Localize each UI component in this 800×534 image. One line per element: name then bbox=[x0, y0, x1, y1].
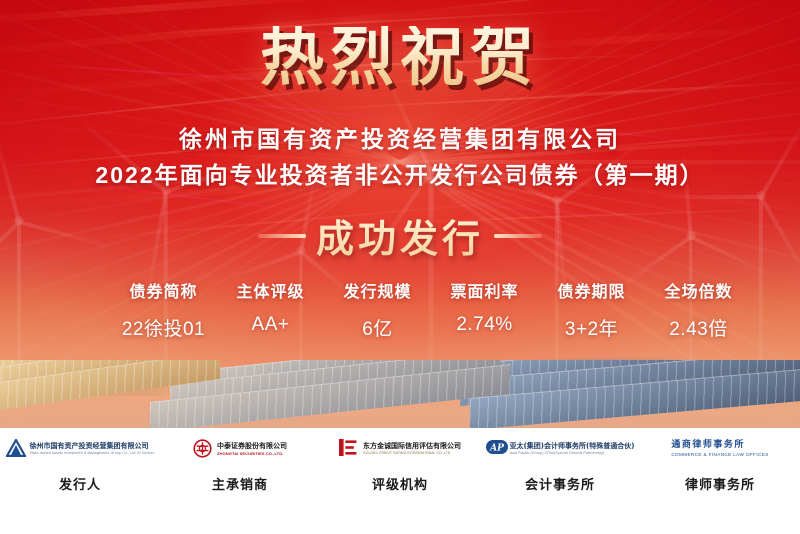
celebration-poster: 热烈祝贺 徐州市国有资产投资经营集团有限公司 2022年面向专业投资者非公开发行… bbox=[0, 0, 800, 534]
divider-line-left bbox=[258, 234, 306, 238]
table-value-cell: 2.43倍 bbox=[645, 314, 752, 341]
partner-name-cn: 亚太(集团)会计师事务所(特殊普通合伙) bbox=[510, 442, 635, 451]
partner-name-cn: 中泰证券股份有限公司 bbox=[217, 442, 287, 451]
partner-cell-发行人: 徐州市国有资产投资经营集团有限公司State-owned Assets Inve… bbox=[0, 428, 160, 493]
partner-role-label: 主承销商 bbox=[212, 474, 268, 493]
issued-banner: 成功发行 bbox=[0, 208, 800, 263]
partner-name-cn: 通商律师事务所 bbox=[671, 440, 768, 451]
table-value-cell: 6亿 bbox=[324, 314, 431, 341]
table-header-cell: 票面利率 bbox=[431, 278, 538, 302]
partner-cell-会计事务所: AP亚太(集团)会计师事务所(特殊普通合伙)Asia Pacific (Grou… bbox=[480, 428, 640, 493]
partner-name-cn: 徐州市国有资产投资经营集团有限公司 bbox=[30, 442, 155, 451]
partner-cell-评级机构: 东方金诚国际信用评估有限公司GOLDEN CREDIT RATING INTER… bbox=[320, 428, 480, 493]
partner-logo: 徐州市国有资产投资经营集团有限公司State-owned Assets Inve… bbox=[6, 438, 155, 460]
partner-name-en: COMMERCE & FINANCE LAW OFFICES bbox=[671, 452, 768, 458]
svg-text:AP: AP bbox=[489, 444, 504, 454]
partner-logo: 东方金诚国际信用评估有限公司GOLDEN CREDIT RATING INTER… bbox=[339, 438, 461, 460]
partner-logo: 中泰证券股份有限公司ZHONGTAI SECURITIES CO.,LTD. bbox=[193, 438, 287, 460]
partner-role-label: 会计事务所 bbox=[525, 474, 595, 493]
partner-name-en: ZHONGTAI SECURITIES CO.,LTD. bbox=[217, 451, 287, 456]
table-value-cell: 22徐投01 bbox=[110, 314, 217, 341]
partner-name-en: Asia Pacific (Group) CPAs(Special Genera… bbox=[510, 451, 635, 456]
partner-logo: 通商律师事务所COMMERCE & FINANCE LAW OFFICES bbox=[671, 438, 768, 460]
ap-monogram-icon: AP bbox=[486, 439, 506, 459]
table-header-cell: 债券期限 bbox=[538, 278, 645, 302]
partner-cell-律师事务所: 通商律师事务所COMMERCE & FINANCE LAW OFFICES律师事… bbox=[640, 428, 800, 493]
table-value-cell: 3+2年 bbox=[538, 314, 645, 341]
bond-summary-table: 债券简称主体评级发行规模票面利率债券期限全场倍数22徐投01AA+6亿2.74%… bbox=[110, 278, 752, 341]
divider-line-right bbox=[494, 234, 542, 238]
table-header-cell: 发行规模 bbox=[324, 278, 431, 302]
triangle-icon bbox=[6, 439, 26, 459]
partner-logo-bar: 徐州市国有资产投资经营集团有限公司State-owned Assets Inve… bbox=[0, 428, 800, 534]
poster-content: 热烈祝贺 徐州市国有资产投资经营集团有限公司 2022年面向专业投资者非公开发行… bbox=[0, 0, 800, 534]
circle-seal-icon bbox=[193, 439, 213, 459]
issuer-name: 徐州市国有资产投资经营集团有限公司 bbox=[0, 120, 800, 154]
red-bars-icon bbox=[339, 439, 359, 459]
table-value-cell: AA+ bbox=[217, 314, 324, 341]
partner-role-label: 评级机构 bbox=[372, 474, 428, 493]
partner-role-label: 律师事务所 bbox=[685, 474, 755, 493]
bond-description: 2022年面向专业投资者非公开发行公司债券（第一期） bbox=[0, 156, 800, 190]
table-header-cell: 全场倍数 bbox=[645, 278, 752, 302]
partner-logo: AP亚太(集团)会计师事务所(特殊普通合伙)Asia Pacific (Grou… bbox=[486, 438, 635, 460]
table-header-cell: 债券简称 bbox=[110, 278, 217, 302]
partner-name-en: State-owned Assets Investment & Manageme… bbox=[30, 451, 155, 456]
table-header-cell: 主体评级 bbox=[217, 278, 324, 302]
partner-name-en: GOLDEN CREDIT RATING INTERNATIONAL CO.,L… bbox=[363, 451, 461, 455]
partner-name-cn: 东方金诚国际信用评估有限公司 bbox=[363, 442, 461, 451]
partner-cell-主承销商: 中泰证券股份有限公司ZHONGTAI SECURITIES CO.,LTD.主承… bbox=[160, 428, 320, 493]
table-value-cell: 2.74% bbox=[431, 314, 538, 341]
page-title: 热烈祝贺 bbox=[0, 26, 800, 90]
partner-role-label: 发行人 bbox=[59, 474, 101, 493]
issued-banner-label: 成功发行 bbox=[316, 208, 484, 263]
